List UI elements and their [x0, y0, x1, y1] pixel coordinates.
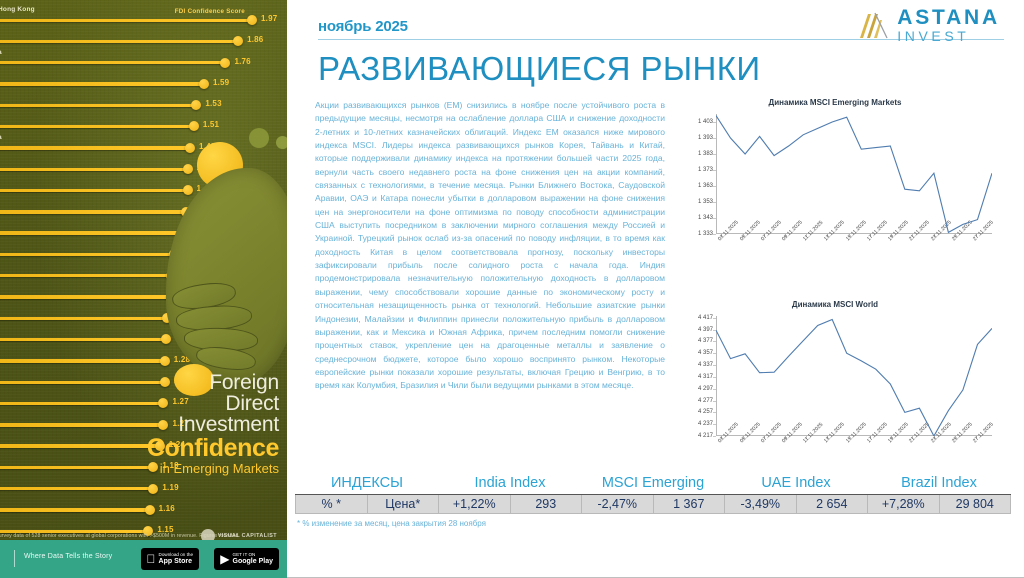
table-row: % *Цена*+1,22%293-2,47%1 367-3,49%2 654+…	[296, 495, 1011, 514]
apple-icon: 	[147, 553, 156, 565]
table-column-header: India Index	[439, 473, 582, 495]
table-cell-percent: -3,49%	[725, 495, 797, 514]
logo-primary: ASTANA	[897, 7, 1000, 28]
logo-wordmark: ASTANA INVEST	[897, 7, 1000, 43]
fdi-bar-value: 1.51	[203, 120, 219, 129]
fdi-bar-label: a	[0, 49, 2, 56]
app-store-badge[interactable]:  Download on the App Store	[141, 548, 199, 570]
table-cell-price: 293	[510, 495, 582, 514]
fdi-bar-value: 1.16	[159, 504, 175, 513]
page-title: РАЗВИВАЮЩИЕСЯ РЫНКИ	[318, 50, 760, 88]
chart-y-tick-label: 1 383	[698, 151, 713, 157]
google-play-small: GET IT ON	[233, 552, 256, 557]
fdi-bar-row: 1.86	[0, 27, 287, 48]
chart-y-tick-label: 4 337	[698, 362, 713, 368]
google-play-big: Google Play	[233, 558, 273, 566]
logo-mark-icon	[856, 10, 890, 40]
fdi-bar-row: 1.51	[0, 112, 287, 133]
chart-y-tick-label: 1 363	[698, 183, 713, 189]
play-triangle-icon: ▶	[220, 553, 229, 565]
fdi-bar-dot	[233, 36, 243, 46]
fdi-bar-dot	[247, 15, 257, 25]
fdi-bar-dot	[185, 143, 195, 153]
fdi-bar-value: 1.76	[234, 57, 250, 66]
fdi-bar-line	[0, 231, 182, 234]
title-line-3: Investment	[119, 414, 279, 435]
hand-shape	[166, 168, 287, 383]
app-store-small: Download on the	[159, 552, 193, 557]
table-cell-price: 1 367	[653, 495, 725, 514]
chart-line-series	[716, 316, 992, 436]
chart-msci-world: Динамика MSCI World 4 2174 2374 2574 277…	[670, 300, 1000, 475]
table-column-header: MSCI Emerging	[582, 473, 725, 495]
chart-y-tick-label: 4 277	[698, 398, 713, 404]
fdi-bar-line	[0, 40, 238, 43]
astana-invest-logo: ASTANA INVEST	[856, 7, 1000, 43]
fdi-bar-label: a	[0, 134, 2, 141]
table-row-label: % *	[296, 495, 368, 514]
infographic-title: Foreign Direct Investment Confidence in …	[119, 372, 279, 475]
fdi-bar-dot	[199, 79, 209, 89]
chart-y-tick-label: 1 333	[698, 231, 713, 237]
fdi-bar-line	[0, 274, 171, 277]
coin-small-icon	[276, 136, 287, 149]
slide-root: FDI Confidence Score Hong Kong1.971.86a1…	[0, 0, 1024, 578]
chart-y-tick-label: 4 417	[698, 315, 713, 321]
chart-y-tick-label: 4 377	[698, 338, 713, 344]
fdi-bar-dot	[148, 484, 158, 494]
fdi-bar-value: 1.59	[213, 78, 229, 87]
fdi-bar-row: 1.53	[0, 91, 287, 112]
table-cell-price: 2 654	[796, 495, 868, 514]
chart-title: Динамика MSCI Emerging Markets	[670, 98, 1000, 107]
chart-msci-emerging-markets: Динамика MSCI Emerging Markets 1 3331 34…	[670, 98, 1000, 273]
slide-content: ноябрь 2025 ASTANA INVEST РАЗВИВАЮЩИЕСЯ …	[287, 0, 1024, 578]
fdi-bar-line	[0, 359, 165, 362]
table-cell-percent: +1,22%	[439, 495, 511, 514]
chart-y-tick-label: 4 257	[698, 409, 713, 415]
title-line-1: Foreign	[119, 372, 279, 393]
brand-name: VISUAL CAPITALIST	[218, 533, 277, 539]
fdi-bar-line	[0, 125, 194, 128]
fdi-bar-line	[0, 253, 174, 256]
fdi-infographic-image: FDI Confidence Score Hong Kong1.971.86a1…	[0, 0, 287, 578]
fdi-bar-line	[0, 317, 167, 320]
fdi-bar-dot	[191, 100, 201, 110]
fdi-bar-value: 1.86	[247, 35, 263, 44]
indices-table: ИНДЕКСЫIndia IndexMSCI EmergingUAE Index…	[295, 473, 1011, 514]
fdi-bar-dot	[145, 505, 155, 515]
fdi-bar-row: Hong Kong1.97	[0, 6, 287, 27]
fdi-bar-row: a1.48	[0, 134, 287, 155]
chart-y-tick-label: 1 373	[698, 167, 713, 173]
fdi-bar-value: 1.19	[162, 483, 178, 492]
fdi-bar-row: 1.19	[0, 475, 287, 496]
title-emphasis: Confidence	[119, 436, 279, 461]
table-cell-price: 29 804	[939, 495, 1011, 514]
chart-y-tick-label: 4 297	[698, 386, 713, 392]
slide-month-label: ноябрь 2025	[318, 18, 408, 35]
table-cell-percent: +7,28%	[868, 495, 940, 514]
coin-medium-icon	[249, 128, 269, 148]
chart-y-tick-label: 1 353	[698, 199, 713, 205]
chart-y-tick-label: 4 357	[698, 350, 713, 356]
chart-y-tick-label: 1 393	[698, 135, 713, 141]
table-column-header: Brazil Index	[868, 473, 1011, 495]
chart-y-tick-label: 1 343	[698, 215, 713, 221]
fdi-bar-row: a1.76	[0, 49, 287, 70]
logo-secondary: INVEST	[897, 29, 1000, 43]
fdi-bar-line	[0, 104, 196, 107]
table-header-row: ИНДЕКСЫIndia IndexMSCI EmergingUAE Index…	[296, 473, 1011, 495]
table-column-header: ИНДЕКСЫ	[296, 473, 439, 495]
table-column-header: UAE Index	[725, 473, 868, 495]
fdi-bar-line	[0, 168, 188, 171]
fdi-bar-line	[0, 19, 252, 22]
google-play-text: GET IT ON Google Play	[233, 552, 273, 566]
footer-divider	[14, 550, 15, 567]
app-store-big: App Store	[159, 558, 193, 566]
table-footnote: * % изменение за месяц, цена закрытия 28…	[297, 519, 486, 528]
infographic-footer-bar: Where Data Tells the Story  Download on…	[0, 540, 287, 578]
title-line-2: Direct	[119, 393, 279, 414]
fdi-bar-line	[0, 146, 190, 149]
chart-y-tick-label: 4 237	[698, 421, 713, 427]
fdi-bar-dot	[220, 58, 230, 68]
fdi-bar-label: Hong Kong	[0, 6, 35, 13]
fdi-bar-row: 1.59	[0, 70, 287, 91]
fdi-bar-line	[0, 189, 188, 192]
fdi-bar-line	[0, 210, 186, 213]
google-play-badge[interactable]: ▶ GET IT ON Google Play	[214, 548, 279, 570]
table-row-label: Цена*	[367, 495, 439, 514]
fdi-bar-row: 1.16	[0, 496, 287, 517]
fdi-bar-value: 1.53	[205, 99, 221, 108]
chart-y-tick-label: 1 403	[698, 119, 713, 125]
fdi-bar-line	[0, 508, 150, 511]
fdi-bar-line	[0, 82, 204, 85]
chart-title: Динамика MSCI World	[670, 300, 1000, 309]
footer-tagline: Where Data Tells the Story	[24, 553, 112, 560]
chart-y-tick-label: 4 397	[698, 327, 713, 333]
chart-y-tick-label: 4 317	[698, 374, 713, 380]
fdi-bar-line	[0, 487, 153, 490]
chart-y-tick	[713, 436, 716, 437]
table-cell-percent: -2,47%	[582, 495, 654, 514]
fdi-bar-dot	[189, 121, 199, 131]
chart-plot-area: 1 3331 3431 3531 3631 3731 3831 3931 403…	[716, 114, 992, 234]
chart-line-series	[716, 114, 992, 234]
title-subtitle: in Emerging Markets	[119, 462, 279, 475]
chart-plot-area: 4 2174 2374 2574 2774 2974 3174 3374 357…	[716, 316, 992, 436]
fdi-bar-line	[0, 61, 225, 64]
body-paragraph: Акции развивающихся рынков (EM) снизилис…	[315, 99, 665, 393]
fdi-bar-line	[0, 295, 171, 298]
fdi-bar-line	[0, 338, 166, 341]
app-store-text: Download on the App Store	[159, 552, 193, 566]
chart-y-tick	[713, 234, 716, 235]
fdi-bar-value: 1.97	[261, 14, 277, 23]
chart-y-tick-label: 4 217	[698, 433, 713, 439]
